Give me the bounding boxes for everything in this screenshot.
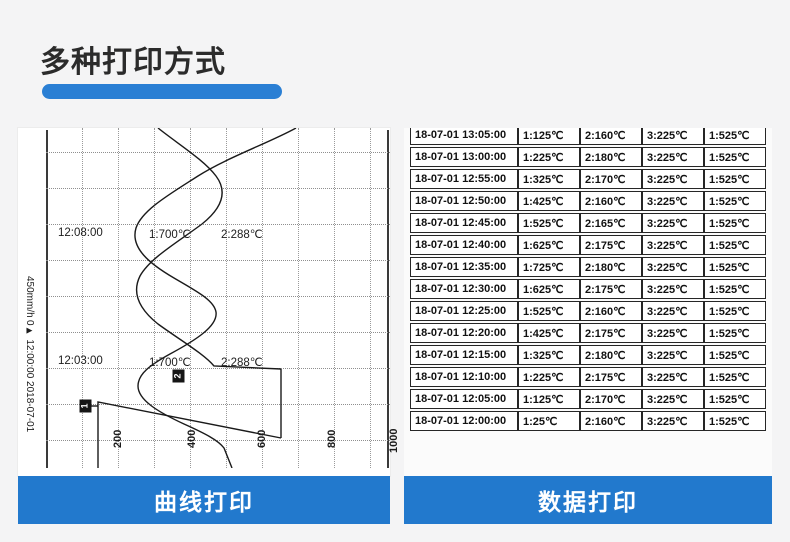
cell-ch2: 2:160℃ <box>580 128 642 145</box>
cell-ch1: 1:225℃ <box>518 147 580 167</box>
cell-ch2: 2:175℃ <box>580 235 642 255</box>
cell-ch4: 1:525℃ <box>704 128 766 145</box>
cell-timestamp: 18-07-01 12:30:00 <box>410 279 518 299</box>
cell-ch1: 1:325℃ <box>518 169 580 189</box>
table-row: 18-07-01 12:45:00 1:525℃ 2:165℃ 3:225℃ 1… <box>410 213 766 233</box>
cell-ch3: 3:225℃ <box>642 147 704 167</box>
cell-ch4: 1:525℃ <box>704 235 766 255</box>
curve-print-panel: 1 2 12:08:00 1:700℃ 2:288℃ 12:03:00 1:70… <box>18 128 390 476</box>
cell-ch2: 2:180℃ <box>580 257 642 277</box>
cell-ch4: 1:525℃ <box>704 257 766 277</box>
cell-ch1: 1:525℃ <box>518 301 580 321</box>
cell-ch3: 3:225℃ <box>642 345 704 365</box>
cell-ch4: 1:525℃ <box>704 345 766 365</box>
cell-timestamp: 18-07-01 12:25:00 <box>410 301 518 321</box>
data-table: 18-07-01 13:10:00 1:25℃ 2:170℃ 3:225℃ 1:… <box>410 128 766 433</box>
cell-ch3: 3:225℃ <box>642 191 704 211</box>
table-row: 18-07-01 12:05:00 1:125℃ 2:170℃ 3:225℃ 1… <box>410 389 766 409</box>
cell-ch3: 3:225℃ <box>642 367 704 387</box>
cell-ch4: 1:525℃ <box>704 147 766 167</box>
x-tick-200: 200 <box>112 430 124 448</box>
cell-ch3: 3:225℃ <box>642 301 704 321</box>
table-row: 18-07-01 12:55:00 1:325℃ 2:170℃ 3:225℃ 1… <box>410 169 766 189</box>
cell-timestamp: 18-07-01 13:00:00 <box>410 147 518 167</box>
x-tick-400: 400 <box>186 430 198 448</box>
cell-ch4: 1:525℃ <box>704 213 766 233</box>
chart-start-time-label: 0► 12:00:00 2018-07-01 <box>24 320 35 432</box>
annotation-ch1-1: 1:700℃ <box>149 227 191 241</box>
cell-ch1: 1:525℃ <box>518 213 580 233</box>
cell-timestamp: 18-07-01 12:15:00 <box>410 345 518 365</box>
annotation-time-1: 12:08:00 <box>58 227 103 239</box>
cell-timestamp: 18-07-01 12:20:00 <box>410 323 518 343</box>
cell-ch1: 1:325℃ <box>518 345 580 365</box>
curve-print-caption: 曲线打印 <box>18 476 390 524</box>
cell-ch2: 2:175℃ <box>580 279 642 299</box>
cell-timestamp: 18-07-01 12:40:00 <box>410 235 518 255</box>
cell-ch1: 1:25℃ <box>518 411 580 431</box>
cell-ch3: 3:225℃ <box>642 169 704 189</box>
cell-ch1: 1:225℃ <box>518 367 580 387</box>
cell-ch1: 1:425℃ <box>518 323 580 343</box>
cell-ch1: 1:425℃ <box>518 191 580 211</box>
data-print-panel: 18-07-01 13:10:00 1:25℃ 2:170℃ 3:225℃ 1:… <box>404 128 772 476</box>
x-tick-600: 600 <box>256 430 268 448</box>
cell-ch4: 1:525℃ <box>704 367 766 387</box>
title-underline <box>42 84 282 99</box>
cell-timestamp: 18-07-01 12:55:00 <box>410 169 518 189</box>
table-row: 18-07-01 13:00:00 1:225℃ 2:180℃ 3:225℃ 1… <box>410 147 766 167</box>
cell-ch3: 3:225℃ <box>642 128 704 145</box>
cell-timestamp: 18-07-01 12:10:00 <box>410 367 518 387</box>
annotation-ch2-1: 2:288℃ <box>221 227 263 241</box>
annotation-time-2: 12:03:00 <box>58 355 103 367</box>
table-row: 18-07-01 12:00:00 1:25℃ 2:160℃ 3:225℃ 1:… <box>410 411 766 431</box>
chart-plot-area: 1 2 <box>46 128 390 468</box>
cell-timestamp: 18-07-01 12:35:00 <box>410 257 518 277</box>
cell-ch1: 1:725℃ <box>518 257 580 277</box>
cell-ch1: 1:625℃ <box>518 235 580 255</box>
annotation-ch1-2: 1:700℃ <box>149 355 191 369</box>
cell-ch3: 3:225℃ <box>642 279 704 299</box>
cell-ch3: 3:225℃ <box>642 213 704 233</box>
data-print-caption: 数据打印 <box>404 476 772 524</box>
cell-ch2: 2:180℃ <box>580 345 642 365</box>
cell-ch1: 1:125℃ <box>518 128 580 145</box>
table-row: 18-07-01 12:25:00 1:525℃ 2:160℃ 3:225℃ 1… <box>410 301 766 321</box>
cell-ch2: 2:175℃ <box>580 323 642 343</box>
table-row: 18-07-01 12:20:00 1:425℃ 2:175℃ 3:225℃ 1… <box>410 323 766 343</box>
cell-ch2: 2:160℃ <box>580 411 642 431</box>
cell-ch3: 3:225℃ <box>642 323 704 343</box>
cell-ch4: 1:525℃ <box>704 169 766 189</box>
curve-traces <box>46 128 390 468</box>
page-title: 多种打印方式 <box>40 48 226 78</box>
cell-ch2: 2:165℃ <box>580 213 642 233</box>
table-row: 18-07-01 12:35:00 1:725℃ 2:180℃ 3:225℃ 1… <box>410 257 766 277</box>
table-row: 18-07-01 12:50:00 1:425℃ 2:160℃ 3:225℃ 1… <box>410 191 766 211</box>
cell-ch3: 3:225℃ <box>642 411 704 431</box>
cell-ch3: 3:225℃ <box>642 389 704 409</box>
table-row: 18-07-01 12:30:00 1:625℃ 2:175℃ 3:225℃ 1… <box>410 279 766 299</box>
cell-timestamp: 18-07-01 13:05:00 <box>410 128 518 145</box>
chart-speed-label: 450mm/h <box>24 276 35 318</box>
cell-timestamp: 18-07-01 12:45:00 <box>410 213 518 233</box>
cell-ch1: 1:625℃ <box>518 279 580 299</box>
table-row: 18-07-01 12:15:00 1:325℃ 2:180℃ 3:225℃ 1… <box>410 345 766 365</box>
cell-ch4: 1:525℃ <box>704 389 766 409</box>
table-row: 18-07-01 13:05:00 1:125℃ 2:160℃ 3:225℃ 1… <box>410 128 766 145</box>
curve-channel-2 <box>137 128 281 369</box>
table-row: 18-07-01 12:10:00 1:225℃ 2:175℃ 3:225℃ 1… <box>410 367 766 387</box>
cell-timestamp: 18-07-01 12:50:00 <box>410 191 518 211</box>
cell-ch2: 2:160℃ <box>580 191 642 211</box>
curve-marker-1: 1 <box>80 400 92 413</box>
annotation-ch2-2: 2:288℃ <box>221 355 263 369</box>
cell-ch4: 1:525℃ <box>704 411 766 431</box>
table-row: 18-07-01 12:40:00 1:625℃ 2:175℃ 3:225℃ 1… <box>410 235 766 255</box>
cell-ch4: 1:525℃ <box>704 301 766 321</box>
curve-marker-2: 2 <box>173 370 185 383</box>
cell-ch2: 2:180℃ <box>580 147 642 167</box>
cell-ch3: 3:225℃ <box>642 235 704 255</box>
cell-ch2: 2:175℃ <box>580 367 642 387</box>
cell-ch4: 1:525℃ <box>704 191 766 211</box>
cell-ch2: 2:160℃ <box>580 301 642 321</box>
cell-ch4: 1:525℃ <box>704 323 766 343</box>
cell-ch2: 2:170℃ <box>580 169 642 189</box>
cell-ch1: 1:125℃ <box>518 389 580 409</box>
x-tick-800: 800 <box>326 430 338 448</box>
cell-timestamp: 18-07-01 12:00:00 <box>410 411 518 431</box>
x-tick-1000: 1000 <box>388 429 400 453</box>
cell-timestamp: 18-07-01 12:05:00 <box>410 389 518 409</box>
cell-ch2: 2:170℃ <box>580 389 642 409</box>
curve-channel-1 <box>135 128 296 468</box>
cell-ch4: 1:525℃ <box>704 279 766 299</box>
cell-ch3: 3:225℃ <box>642 257 704 277</box>
